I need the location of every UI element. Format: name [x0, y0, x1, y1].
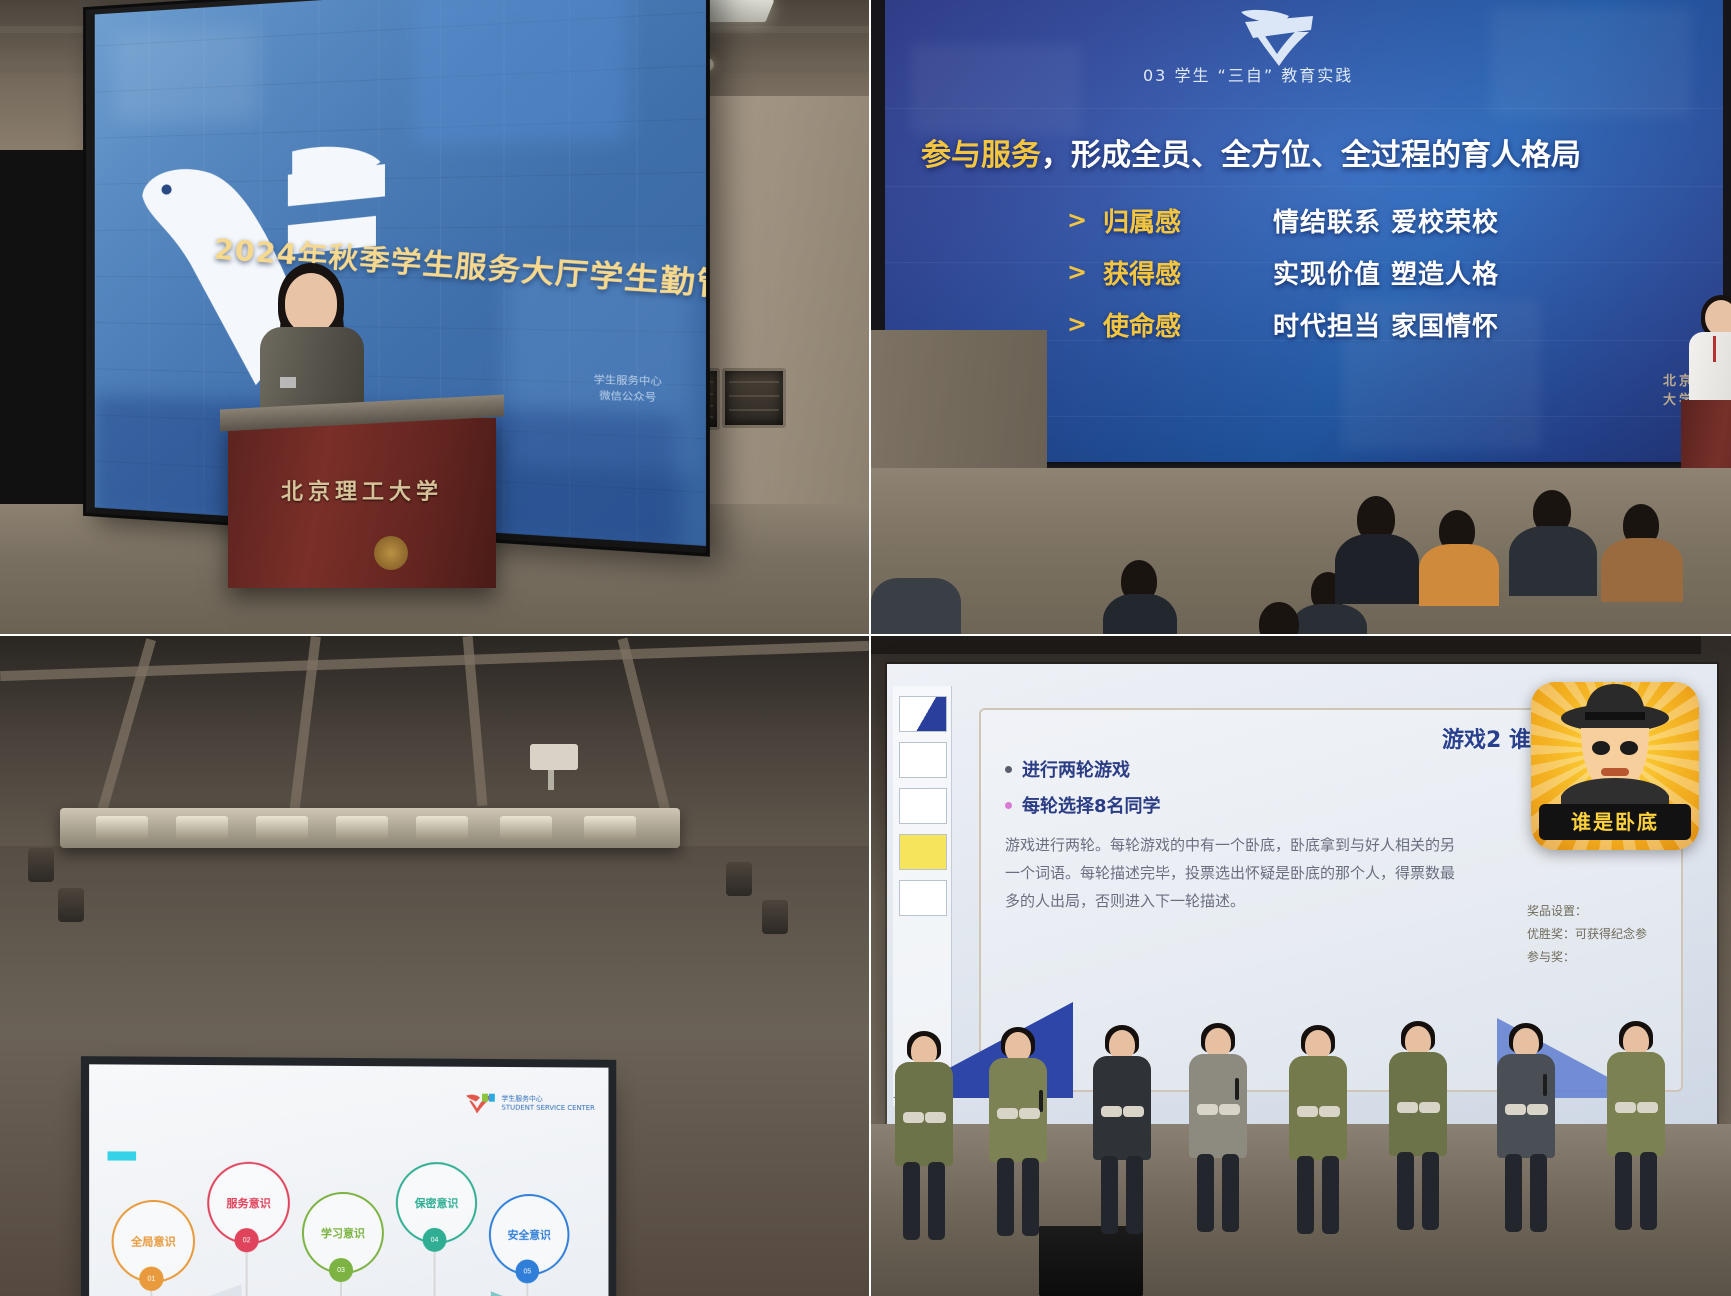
row-key: 使命感: [1103, 306, 1273, 343]
truss-light: [256, 816, 308, 840]
awareness-circle-group: 全局意识 01 服务意识 02 学习意识: [112, 1162, 591, 1296]
student-shoe: [1397, 1102, 1418, 1113]
student-shoe: [1123, 1106, 1144, 1117]
prize-line: 参与奖：: [1527, 946, 1687, 969]
prize-line: 优胜奖：可获得纪念参: [1527, 923, 1687, 946]
student-shoe: [903, 1112, 924, 1123]
awareness-pin: 05: [515, 1259, 539, 1283]
led-blotch: [412, 0, 629, 146]
audience-shoulders: [871, 578, 961, 634]
collage-divider-vertical: [869, 0, 871, 1296]
ceiling-projector: [530, 744, 578, 770]
student-shoe: [1615, 1102, 1636, 1113]
brand-line1: 学生服务中心: [501, 1095, 594, 1104]
led-blotch: [114, 25, 257, 124]
truss-light: [336, 816, 388, 840]
awareness-item: 全局意识 01: [112, 1200, 191, 1283]
student-shoe: [1219, 1104, 1240, 1115]
student-legs: [997, 1158, 1039, 1244]
microphone-icon: [1543, 1074, 1547, 1096]
row-key: 归属感: [1103, 202, 1273, 239]
student-shoe: [1637, 1102, 1658, 1113]
row-value: 情结联系 爱校荣校: [1273, 202, 1499, 239]
slide-row: > 获得感 实现价值 塑造人格: [1067, 246, 1499, 298]
brand-line2: STUDENT SERVICE CENTER: [501, 1104, 594, 1113]
side-light: [762, 900, 788, 934]
slide-bullet-list: 进行两轮游戏 每轮选择8名同学: [1005, 756, 1305, 828]
ppt-thumbnail[interactable]: [899, 742, 947, 778]
slide-paragraph: 游戏进行两轮。每轮游戏的中有一个卧底，卧底拿到与好人相关的另一个词语。每轮描述完…: [1005, 832, 1465, 915]
corner-tag-line2: 微信公众号: [594, 388, 662, 405]
slide-corner-tag: 学生服务中心 微信公众号: [594, 373, 662, 406]
panel-top-left-speaker-podium: 2024年秋季学生服务大厅学生勤管培训会 学生服务中心 微信公众号 北京理工大学: [0, 0, 869, 634]
student-shoe: [1101, 1106, 1122, 1117]
student-legs: [1397, 1152, 1439, 1238]
audience-shoulders: [1509, 526, 1597, 596]
audience-head: [1259, 602, 1299, 634]
awareness-label: 服务意识: [226, 1195, 270, 1211]
screen-blotch: [911, 44, 1081, 134]
speaker-head: [285, 273, 337, 333]
podium: 北京理工大学: [228, 418, 496, 588]
prize-line: 奖品设置：: [1527, 900, 1687, 923]
panel-top-right-blue-slide: 03 学生 “三自” 教育实践 参与服务，形成全员、全方位、全过程的育人格局 >…: [871, 0, 1731, 634]
student-shoe: [1197, 1104, 1218, 1115]
row-value: 实现价值 塑造人格: [1273, 254, 1499, 291]
chevron-right-icon: >: [1067, 258, 1103, 286]
screen-blotch: [1491, 8, 1691, 118]
bullet-dot-icon: [1005, 802, 1012, 809]
slide-row: > 归属感 情结联系 爱校荣校: [1067, 194, 1499, 246]
icon-label: 谁是卧底: [1539, 804, 1691, 840]
student-shoe: [1505, 1104, 1526, 1115]
student-shoe: [1019, 1108, 1040, 1119]
audience-shoulders: [1103, 594, 1177, 634]
speaker-head: [1705, 300, 1731, 336]
prize-settings-block: 奖品设置： 优胜奖：可获得纪念参 参与奖：: [1527, 900, 1687, 968]
ppt-thumbnail[interactable]: [899, 696, 947, 732]
chevron-right-icon: >: [1067, 206, 1103, 234]
ppt-thumbnail[interactable]: [899, 880, 947, 916]
projected-slide: 学生服务中心 STUDENT SERVICE CENTER 全局意识 01 服务…: [89, 1064, 608, 1296]
panel-bottom-left-auditorium: 学生服务中心 STUDENT SERVICE CENTER 全局意识 01 服务…: [0, 636, 869, 1296]
student-legs: [1101, 1156, 1143, 1242]
truss-light: [416, 816, 468, 840]
bullet-item: 进行两轮游戏: [1005, 756, 1305, 782]
awareness-label: 学习意识: [321, 1225, 365, 1241]
microphone-icon: [1235, 1078, 1239, 1100]
slide-decor-triangle: [491, 1291, 609, 1296]
awareness-label: 保密意识: [415, 1195, 459, 1211]
ppt-thumbnail[interactable]: [899, 788, 947, 824]
microphone-icon: [1039, 1090, 1043, 1112]
service-center-logo-icon: [464, 1093, 498, 1115]
dove-v-logo: [1231, 6, 1327, 68]
university-seal: [374, 536, 408, 570]
awareness-item: 保密意识 04: [396, 1162, 473, 1244]
slide-headline: 参与服务，形成全员、全方位、全过程的育人格局: [921, 130, 1721, 174]
top-dark-band: [871, 636, 1701, 654]
panel-bottom-right-stage-game: 游戏2 谁是卧底 进行两轮游戏 每轮选择8名同学 游戏进行两轮。每轮游戏的中有一…: [871, 636, 1731, 1296]
awareness-pin: 03: [329, 1258, 353, 1282]
truss-light: [176, 816, 228, 840]
podium-sign-text: 北京理工大学: [228, 474, 496, 506]
row-value: 时代担当 家国情怀: [1273, 306, 1499, 343]
student-legs: [903, 1162, 945, 1248]
student-legs: [1615, 1152, 1657, 1238]
student-shoe: [1319, 1106, 1340, 1117]
row-key: 获得感: [1103, 254, 1273, 291]
corner-tag-line1: 学生服务中心: [594, 373, 662, 390]
headline-rest: ，形成全员、全方位、全过程的育人格局: [1041, 138, 1581, 173]
slide-decor-triangle: [89, 1284, 241, 1296]
bullet-text: 每轮选择8名同学: [1022, 792, 1161, 818]
photo-collage: 2024年秋季学生服务大厅学生勤管培训会 学生服务中心 微信公众号 北京理工大学: [0, 0, 1731, 1296]
side-light: [726, 862, 752, 896]
student-legs: [1297, 1156, 1339, 1242]
audience-shoulders: [1419, 544, 1499, 606]
truss-light: [96, 816, 148, 840]
slide-accent-tag: [108, 1151, 137, 1160]
wall-grille: [722, 368, 786, 428]
slide-brand-logo: 学生服务中心 STUDENT SERVICE CENTER: [464, 1093, 595, 1115]
student-shoe: [1297, 1106, 1318, 1117]
bullet-item: 每轮选择8名同学: [1005, 792, 1305, 818]
bullet-dot-icon: [1005, 766, 1012, 773]
headline-highlight: 参与服务: [921, 138, 1041, 173]
lanyard: [1713, 336, 1731, 362]
brand-text: 学生服务中心 STUDENT SERVICE CENTER: [501, 1095, 594, 1113]
student-shoe: [1527, 1104, 1548, 1115]
audience-shoulders: [1601, 538, 1683, 602]
student-legs: [1197, 1154, 1239, 1240]
student-shoe: [925, 1112, 946, 1123]
left-wall: [871, 330, 1047, 470]
awareness-label: 安全意识: [508, 1227, 551, 1243]
student-shoe: [1419, 1102, 1440, 1113]
awareness-item: 服务意识 02: [207, 1162, 286, 1245]
collage-divider-horizontal: [0, 634, 1731, 636]
ppt-thumbnail[interactable]: [899, 834, 947, 870]
bullet-text: 进行两轮游戏: [1022, 756, 1130, 782]
awareness-item: 安全意识 05: [489, 1194, 566, 1275]
chevron-right-icon: >: [1067, 310, 1103, 338]
truss-light: [584, 816, 636, 840]
slide-rows: > 归属感 情结联系 爱校荣校 > 获得感 实现价值 塑造人格 > 使命感 时代…: [1067, 194, 1499, 350]
awareness-pin: 02: [235, 1228, 259, 1252]
spy-detective-icon: 谁是卧底: [1531, 682, 1699, 850]
side-light: [28, 848, 54, 882]
slide-section-label: 03 学生 “三自” 教育实践: [1143, 62, 1353, 86]
student-legs: [1505, 1154, 1547, 1240]
awareness-item: 学习意识 03: [302, 1192, 380, 1274]
audience-shoulders: [1291, 604, 1367, 634]
awareness-label: 全局意识: [131, 1233, 176, 1249]
slide-row: > 使命感 时代担当 家国情怀: [1067, 298, 1499, 350]
speaker-badge: [280, 377, 296, 388]
student-shoe: [997, 1108, 1018, 1119]
audience-shoulders: [1335, 534, 1419, 604]
truss-light: [500, 816, 552, 840]
floor: [871, 468, 1731, 634]
awareness-pin: 04: [423, 1228, 447, 1252]
side-light: [58, 888, 84, 922]
